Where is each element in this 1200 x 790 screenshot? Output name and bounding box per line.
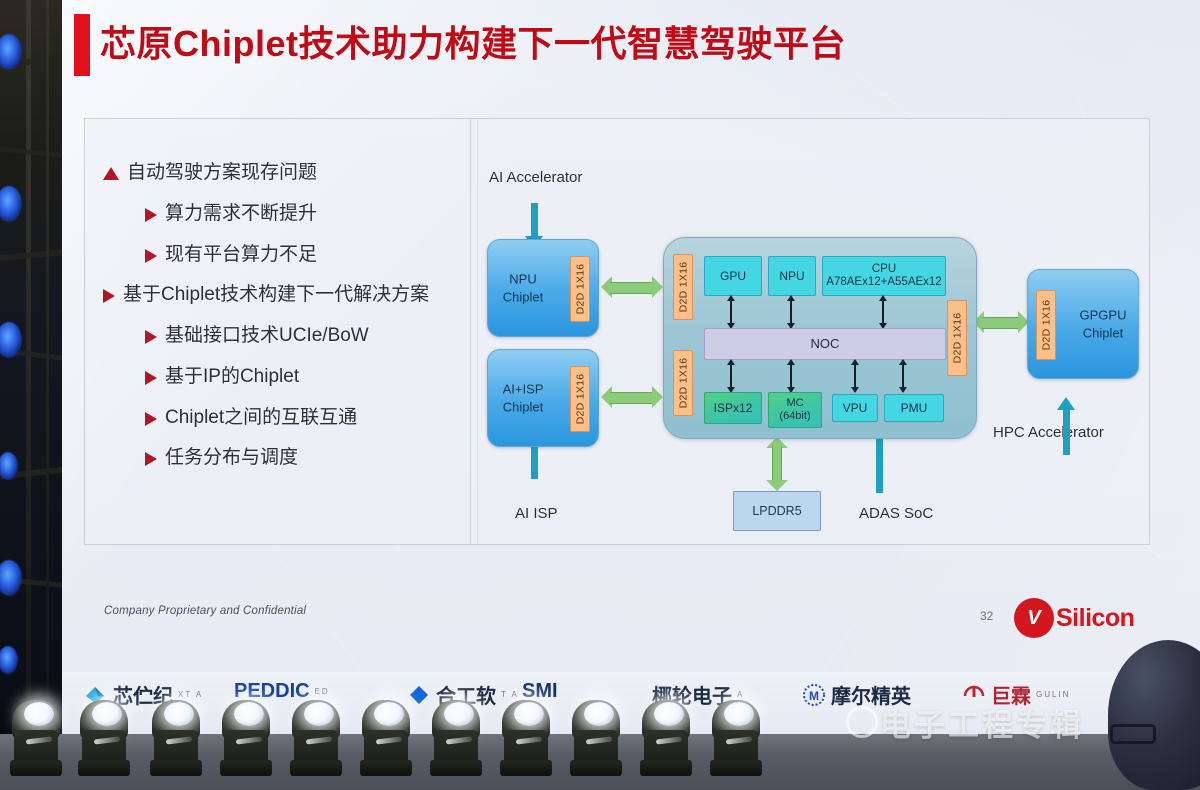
list-item: 任务分布与调度: [103, 446, 465, 470]
verisilicon-logo: V Silicon: [1014, 598, 1134, 638]
stage-light-fixture: [358, 700, 414, 778]
page-title: 芯原Chiplet技术助力构建下一代智慧驾驶平台: [100, 16, 1000, 72]
stage-light-fixture: [568, 700, 624, 778]
bullet-text: 基于IP的Chiplet: [165, 365, 299, 389]
triangle-right-icon: [145, 249, 157, 263]
architecture-diagram: AI Accelerator AI ISP ADAS SoC HPC Accel…: [471, 119, 1149, 544]
triangle-right-icon: [145, 330, 157, 344]
sponsor-sub: ED: [315, 687, 330, 696]
callout-hpc-accelerator: HPC Accelerator: [993, 424, 1104, 441]
stage-light-fixture: [218, 700, 274, 778]
sponsor-mark-icon: M: [802, 683, 826, 707]
soc-block-gpu: GPU: [704, 256, 762, 296]
svg-text:M: M: [809, 689, 819, 703]
link-arrow-npu-soc: [601, 276, 663, 298]
projection-screen: 芯原Chiplet技术助力构建下一代智慧驾驶平台 自动驾驶方案现存问题 算力需求…: [62, 0, 1200, 672]
stage-light-fixture: [148, 700, 204, 778]
list-item: 基础接口技术UCIe/BoW: [103, 324, 465, 348]
triangle-right-icon: [145, 371, 157, 385]
verisilicon-logo-mark: V: [1014, 598, 1054, 638]
soc-block-mc: MC (64bit): [768, 392, 822, 428]
soc-arrow-noc-vpu: [854, 364, 856, 388]
arrow-adas-soc-label: [876, 437, 883, 493]
soc-block-ispx12: ISPx12: [704, 392, 762, 424]
triangle-right-icon: [145, 452, 157, 466]
npu-chiplet-label: NPUChiplet: [488, 270, 558, 305]
soc-arrow-cpu-noc: [882, 300, 884, 324]
sponsor-sub: XT A: [178, 690, 203, 699]
bullet-text: 算力需求不断提升: [165, 202, 317, 226]
gpgpu-chiplet[interactable]: GPGPUChiplet D2D 1X16: [1027, 269, 1139, 379]
triangle-right-icon: [103, 289, 115, 303]
stage-light-fixture: [8, 700, 64, 778]
soc-block-vpu: VPU: [832, 394, 878, 422]
bullet-text: 基于Chiplet技术构建下一代解决方案: [123, 283, 429, 307]
d2d-soc-left-top: D2D 1X16: [673, 254, 693, 320]
soc-arrow-npu-noc: [790, 300, 792, 324]
slide: 芯原Chiplet技术助力构建下一代智慧驾驶平台 自动驾驶方案现存问题 算力需求…: [62, 0, 1200, 672]
stage-light-blue: [0, 560, 22, 596]
stage-truss: [0, 0, 70, 700]
list-item: 基于Chiplet技术构建下一代解决方案: [103, 283, 465, 307]
bullet-list: 自动驾驶方案现存问题 算力需求不断提升 现有平台算力不足 基于Chiplet技术…: [103, 161, 465, 487]
stage-light-blue: [0, 646, 18, 674]
d2d-soc-right: D2D 1X16: [947, 300, 967, 376]
list-item: 基于IP的Chiplet: [103, 365, 465, 389]
stage-light-blue: [0, 186, 22, 222]
list-item: 算力需求不断提升: [103, 202, 465, 226]
bullet-text: 基础接口技术UCIe/BoW: [165, 324, 369, 348]
d2d-soc-left-bottom: D2D 1X16: [673, 350, 693, 416]
soc-arrow-noc-pmu: [902, 364, 904, 388]
soc-arrow-noc-mc: [790, 364, 792, 388]
ai-isp-chiplet[interactable]: AI+ISPChiplet D2D 1X16: [487, 349, 599, 447]
ai-isp-chiplet-label: AI+ISPChiplet: [488, 380, 558, 415]
soc-block-cpu: CPU A78AEx12+A55AEx12: [822, 256, 946, 296]
arrow-ai-accelerator-to-npu: [531, 203, 538, 237]
soc-block-npu: NPU: [768, 256, 816, 296]
adas-soc-block[interactable]: D2D 1X16 D2D 1X16 D2D 1X16 GPU NPU CPU A…: [663, 237, 977, 439]
confidentiality-note: Company Proprietary and Confidential: [104, 605, 306, 617]
title-accent-bar: [74, 14, 90, 76]
soc-block-cpu-label: CPU A78AEx12+A55AEx12: [823, 263, 945, 289]
link-arrow-soc-gpgpu: [973, 311, 1029, 333]
stage-light-fixture: [638, 700, 694, 778]
triangle-right-icon: [145, 412, 157, 426]
list-item: Chiplet之间的互联互通: [103, 406, 465, 430]
audience-glasses: [1110, 724, 1156, 744]
lpddr5-block[interactable]: LPDDR5: [733, 491, 821, 531]
verisilicon-logo-text: Silicon: [1056, 604, 1134, 633]
soc-block-mc-label: MC (64bit): [779, 397, 810, 422]
conference-photo: 芯原Chiplet技术助力构建下一代智慧驾驶平台 自动驾驶方案现存问题 算力需求…: [0, 0, 1200, 790]
callout-adas-soc: ADAS SoC: [859, 505, 933, 522]
right-panel: AI Accelerator AI ISP ADAS SoC HPC Accel…: [470, 118, 1150, 545]
page-number: 32: [980, 609, 993, 623]
list-item: 现有平台算力不足: [103, 243, 465, 267]
stage-light-fixture: [288, 700, 344, 778]
arrow-hpc-accelerator: [1063, 409, 1070, 455]
soc-arrow-gpu-noc: [730, 300, 732, 324]
bullet-text: 自动驾驶方案现存问题: [127, 161, 317, 185]
stage-light-fixture: [76, 700, 132, 778]
gpgpu-chiplet-label: GPGPUChiplet: [1068, 306, 1138, 341]
list-item: 自动驾驶方案现存问题: [103, 161, 465, 185]
d2d-interface-npu: D2D 1X16: [570, 256, 590, 322]
bullet-text: Chiplet之间的互联互通: [165, 406, 357, 430]
link-arrow-aiisp-soc: [601, 386, 663, 408]
triangle-right-icon: [145, 208, 157, 222]
sponsor-sub: T A: [501, 690, 519, 699]
d2d-interface-gpgpu: D2D 1X16: [1036, 290, 1056, 360]
soc-arrow-noc-ispx12: [730, 364, 732, 388]
sponsor-sub: A: [737, 690, 744, 699]
triangle-up-icon: [103, 167, 119, 180]
d2d-interface-ai-isp: D2D 1X16: [570, 366, 590, 432]
callout-ai-isp: AI ISP: [515, 505, 558, 522]
stage-light-fixture: [498, 700, 554, 778]
stage-light-fixture: [428, 700, 484, 778]
watermark-text: 电子工程专辑: [880, 700, 1084, 745]
callout-ai-accelerator: AI Accelerator: [489, 169, 582, 186]
soc-block-pmu: PMU: [884, 394, 944, 422]
soc-bus-noc: NOC: [704, 328, 946, 360]
sponsor-sub: GULIN: [1036, 690, 1070, 699]
bullet-text: 现有平台算力不足: [165, 243, 317, 267]
left-panel: 自动驾驶方案现存问题 算力需求不断提升 现有平台算力不足 基于Chiplet技术…: [84, 118, 478, 545]
npu-chiplet[interactable]: NPUChiplet D2D 1X16: [487, 239, 599, 337]
stage-light-fixture: [708, 700, 764, 778]
link-arrow-soc-lpddr5: [766, 437, 788, 491]
bullet-text: 任务分布与调度: [165, 446, 298, 470]
watermark-at-icon: [846, 706, 878, 738]
